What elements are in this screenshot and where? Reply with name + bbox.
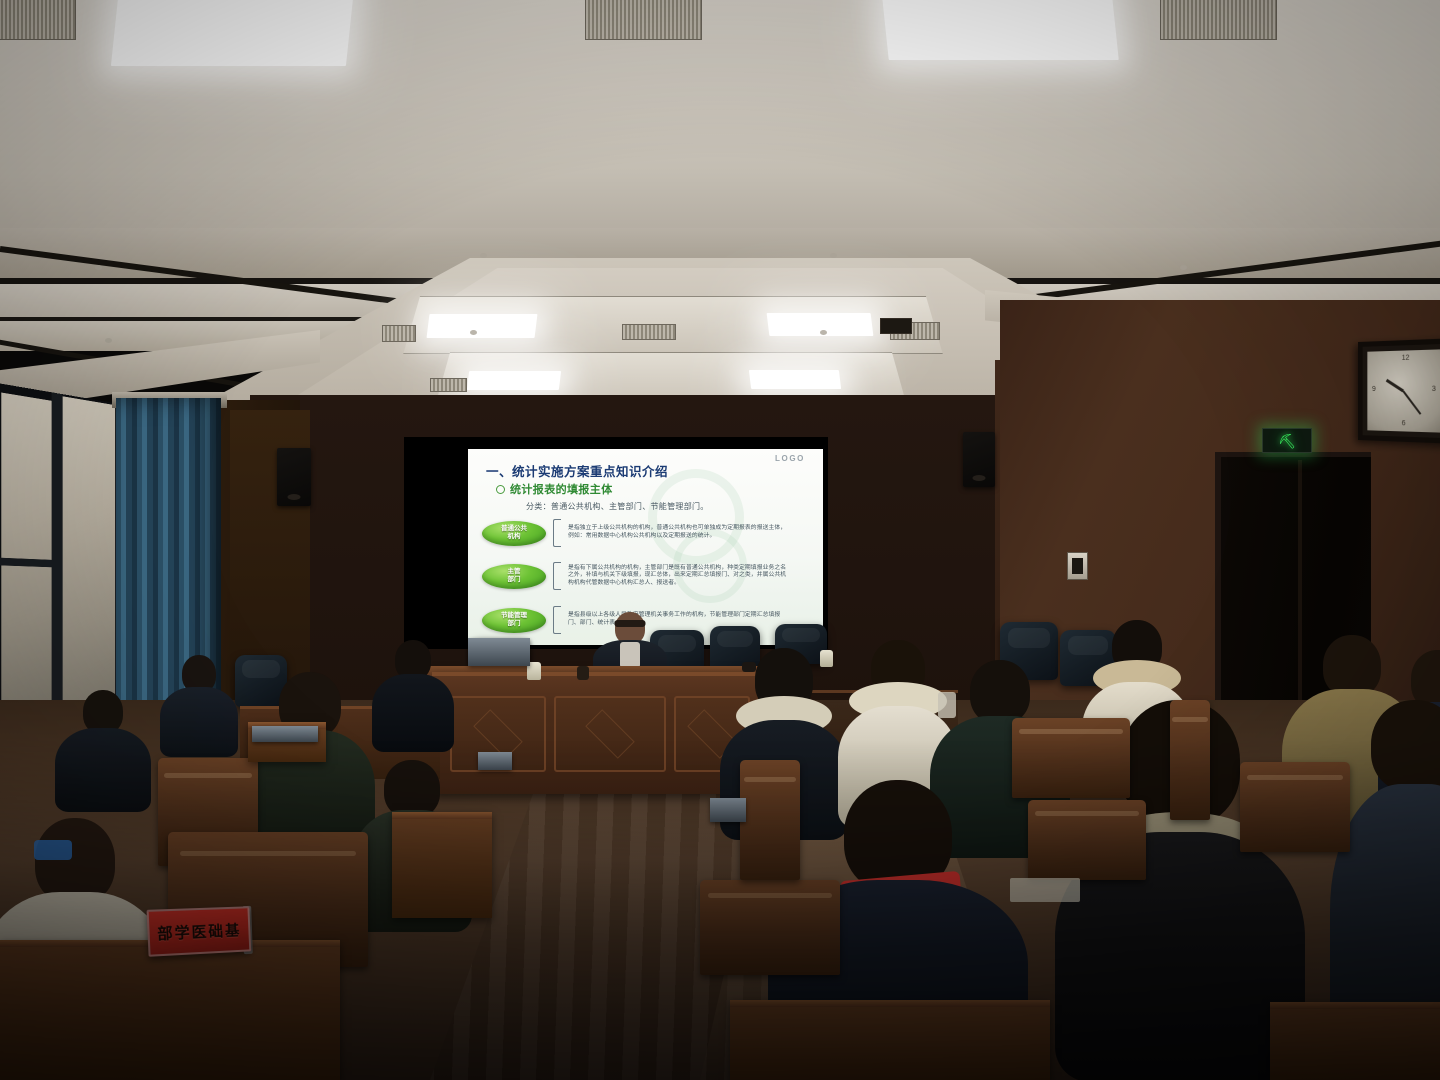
slide-row-body: 是指独立于上级公共机构的机构，普通公共机构也可单独成为定期报表的报送主体，例如：… bbox=[568, 525, 792, 540]
desk-top-edge bbox=[730, 1000, 1050, 1007]
attendee-body bbox=[55, 728, 151, 812]
wall-clock: 12 3 6 9 bbox=[1358, 338, 1440, 443]
presenter-laptop[interactable] bbox=[468, 638, 530, 666]
presenter-glasses-icon bbox=[615, 620, 646, 627]
clock-tick: 6 bbox=[1402, 420, 1406, 427]
bullet-circle-icon bbox=[496, 485, 505, 494]
wooden-chair[interactable] bbox=[1012, 718, 1130, 798]
wooden-chair[interactable] bbox=[740, 760, 800, 880]
slide-title: 一、统计实施方案重点知识介绍 bbox=[486, 461, 668, 480]
conference-room-photo: LOGO 一、统计实施方案重点知识介绍 统计报表的填报主体 分类：普通公共机构、… bbox=[0, 0, 1440, 1080]
attendee-phone[interactable] bbox=[938, 692, 956, 718]
delegation-nameplate: 部学医础基 bbox=[147, 906, 252, 957]
speaker-cone-icon bbox=[973, 475, 986, 481]
desk-top-edge bbox=[1270, 1002, 1440, 1009]
led-panel-light bbox=[881, 0, 1119, 60]
exit-sign: ⛏ bbox=[1262, 428, 1312, 453]
attendee-phone[interactable] bbox=[34, 840, 72, 860]
clock-face: 12 3 6 9 bbox=[1367, 349, 1440, 432]
ceiling-projector-box bbox=[880, 318, 912, 334]
led-panel-light bbox=[749, 370, 841, 389]
slide-oval-label: 普通公共 机构 bbox=[482, 521, 546, 546]
exit-person-icon: ⛏ bbox=[1278, 434, 1296, 448]
attendee-desk bbox=[1270, 1002, 1440, 1080]
attendee bbox=[55, 690, 151, 810]
nameplate-text: 部学医础基 bbox=[157, 919, 242, 944]
ceiling-fixture-dot bbox=[820, 330, 827, 335]
air-vent bbox=[0, 0, 76, 40]
panel-diamond-motif bbox=[585, 709, 634, 758]
attendee-head bbox=[970, 660, 1030, 724]
ceiling-fixture-dot bbox=[830, 253, 837, 258]
ceiling-fixture-dot bbox=[480, 253, 487, 258]
oval-label-text: 普通公共 机构 bbox=[501, 525, 527, 541]
air-vent bbox=[622, 324, 676, 340]
laptop-screen bbox=[468, 638, 530, 666]
led-panel-light bbox=[427, 314, 538, 338]
tablet-screen bbox=[252, 726, 318, 742]
left-wall-speaker bbox=[277, 448, 311, 506]
wall-control-panel[interactable] bbox=[1067, 552, 1088, 580]
attendee-tablet[interactable] bbox=[710, 798, 746, 822]
clock-tick: 9 bbox=[1372, 386, 1376, 393]
panel-switch-icon bbox=[1072, 558, 1083, 574]
ceiling-fixture-dot bbox=[95, 265, 102, 270]
attendee-body bbox=[160, 687, 238, 757]
clock-minute-hand bbox=[1402, 390, 1421, 414]
slide-classification-line: 分类：普通公共机构、主管部门、节能管理部门。 bbox=[526, 501, 709, 512]
attendee-desk bbox=[392, 812, 492, 918]
attendee-tablet[interactable] bbox=[478, 752, 512, 770]
attendee-desk bbox=[0, 940, 340, 1080]
brace-icon bbox=[553, 519, 561, 547]
podium-desk bbox=[432, 672, 762, 794]
slide-subtitle: 统计报表的填报主体 bbox=[510, 481, 613, 497]
ceiling-fixture-dot bbox=[470, 330, 477, 335]
presenter-shirt bbox=[620, 642, 640, 668]
led-panel-light bbox=[111, 0, 354, 66]
air-vent bbox=[382, 325, 416, 342]
clock-tick: 3 bbox=[1432, 386, 1436, 393]
window-glass bbox=[62, 396, 115, 712]
air-vent bbox=[585, 0, 702, 40]
desk-top-edge bbox=[392, 812, 492, 819]
attendee bbox=[160, 655, 238, 755]
led-panel-light bbox=[467, 371, 561, 390]
clock-hour-hand bbox=[1386, 379, 1404, 392]
attendee-body bbox=[372, 674, 454, 752]
paper-document bbox=[1010, 878, 1080, 902]
air-vent bbox=[1160, 0, 1277, 40]
attendee-head bbox=[1371, 700, 1440, 792]
attendee bbox=[372, 640, 454, 750]
speaker-cone-icon bbox=[288, 494, 301, 500]
wooden-chair[interactable] bbox=[1170, 700, 1210, 820]
slide-subtitle-row: 统计报表的填报主体 bbox=[496, 481, 613, 497]
podium-panel bbox=[554, 696, 666, 772]
clock-tick: 12 bbox=[1402, 355, 1410, 362]
attendee-head bbox=[1323, 635, 1381, 697]
slide-logo-placeholder: LOGO bbox=[775, 454, 805, 463]
attendee-tablet[interactable] bbox=[252, 726, 318, 742]
ceiling-fixture-dot bbox=[1180, 265, 1187, 270]
desk-microphone[interactable] bbox=[577, 666, 589, 680]
tablet-screen bbox=[478, 752, 512, 770]
wooden-chair[interactable] bbox=[1028, 800, 1146, 880]
slide-row: 普通公共 机构 是指独立于上级公共机构的机构，普通公共机构也可单独成为定期报表的… bbox=[482, 519, 792, 547]
wooden-chair[interactable] bbox=[700, 880, 840, 975]
tablet-screen bbox=[710, 798, 746, 822]
ceiling-fixture-dot bbox=[105, 338, 112, 343]
air-vent bbox=[430, 378, 467, 392]
right-wall-speaker bbox=[963, 432, 995, 487]
window-glass bbox=[1, 393, 51, 712]
wooden-chair[interactable] bbox=[1240, 762, 1350, 852]
attendee-desk bbox=[730, 1000, 1050, 1080]
